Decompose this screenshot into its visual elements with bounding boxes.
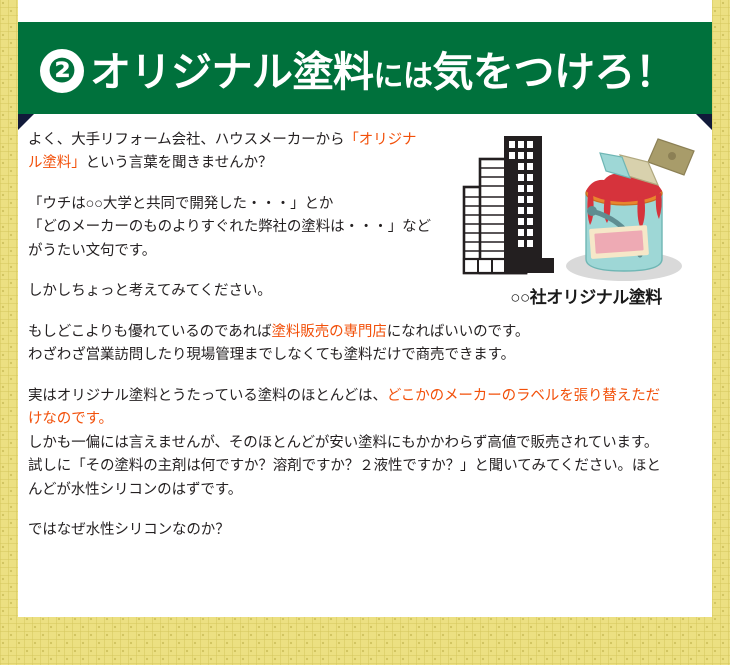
page-root: ❷ オリジナル塗料 には 気をつけろ！ よく、大手リフォーム会社、ハウスメーカー…: [0, 0, 730, 665]
paragraph-relabel: 実はオリジナル塗料とうたっている塗料のほとんどは、どこかのメーカーのラベルを張り…: [28, 385, 706, 502]
claims-line-1: 「ウチは○○大学と共同で開発した・・・」とか: [28, 196, 333, 212]
claims-line-3: がうたい文句です。: [28, 243, 156, 259]
banner-title-group: ❷ オリジナル塗料 には 気をつけろ！: [40, 38, 676, 98]
banner-title-tail: 気をつけろ！: [433, 38, 676, 98]
intro-text-a: よく、大手リフォーム会社、ハウスメーカーから: [28, 132, 344, 148]
banner-title-particle: には: [374, 51, 433, 95]
relabel-line-2: しかも一偏には言えませんが、そのほとんどが安い塗料にもかかわらず高値で販売されて…: [28, 435, 658, 451]
section-header-banner: ❷ オリジナル塗料 には 気をつけろ！: [18, 22, 712, 114]
content-card-top-strip: [18, 0, 712, 22]
illustration-caption: ○○社オリジナル塗料: [462, 283, 710, 308]
relabel-highlight-b: けなのです。: [28, 411, 113, 427]
paragraph-claims: 「ウチは○○大学と共同で開発した・・・」とか 「どのメーカーのものよりすぐれた弊…: [28, 193, 468, 263]
paragraph-intro: よく、大手リフォーム会社、ハウスメーカーから「オリジナ ル塗料」という言葉を聞き…: [28, 129, 468, 176]
spacer-5: [28, 502, 706, 519]
intro-highlight-a: 「オリジナ: [344, 132, 416, 148]
paragraph-question: ではなぜ水性シリコンなのか？: [28, 519, 706, 542]
claims-line-2: 「どのメーカーのものよりすぐれた弊社の塗料は・・・」など: [28, 219, 431, 235]
paint-can-icon: [586, 173, 662, 271]
specialist-highlight: 塗料販売の専門店: [272, 324, 387, 340]
intro-highlight-b: ル塗料」: [28, 155, 86, 171]
building-silhouette-icon: [464, 136, 554, 273]
specialist-text-b: になればいいのです。: [387, 324, 530, 340]
paragraph-specialist: もしどこよりも優れているのであれば塗料販売の専門店になればいいのです。 わざわざ…: [28, 321, 706, 368]
specialist-text-a: もしどこよりも優れているのであれば: [28, 324, 272, 340]
spacer-4: [28, 368, 706, 385]
section-number-badge: ❷: [40, 49, 84, 93]
relabel-text-a: 実はオリジナル塗料とうたっている塗料のほとんどは、: [28, 388, 387, 404]
question-text: ではなぜ水性シリコンなのか？: [28, 522, 230, 538]
relabel-line-4: んどが水性シリコンのはずです。: [28, 482, 242, 498]
intro-text-b: という言葉を聞きませんか？: [86, 155, 273, 171]
specialist-line-2: わざわざ営業訪問したり現場管理までしなくても塗料だけで商売できます。: [28, 347, 515, 363]
ribbon-fold-right-icon: [696, 114, 712, 130]
relabel-highlight-a: どこかのメーカーのラベルを張り替えただ: [387, 388, 660, 404]
think-text: しかしちょっと考えてみてください。: [28, 283, 272, 299]
relabel-line-3: 試しに「その塗料の主剤は何ですか？溶剤ですか？２液性ですか？」と聞いてみてくださ…: [28, 458, 661, 474]
banner-title-main: オリジナル塗料: [90, 38, 374, 98]
ribbon-fold-left-icon: [18, 114, 34, 130]
